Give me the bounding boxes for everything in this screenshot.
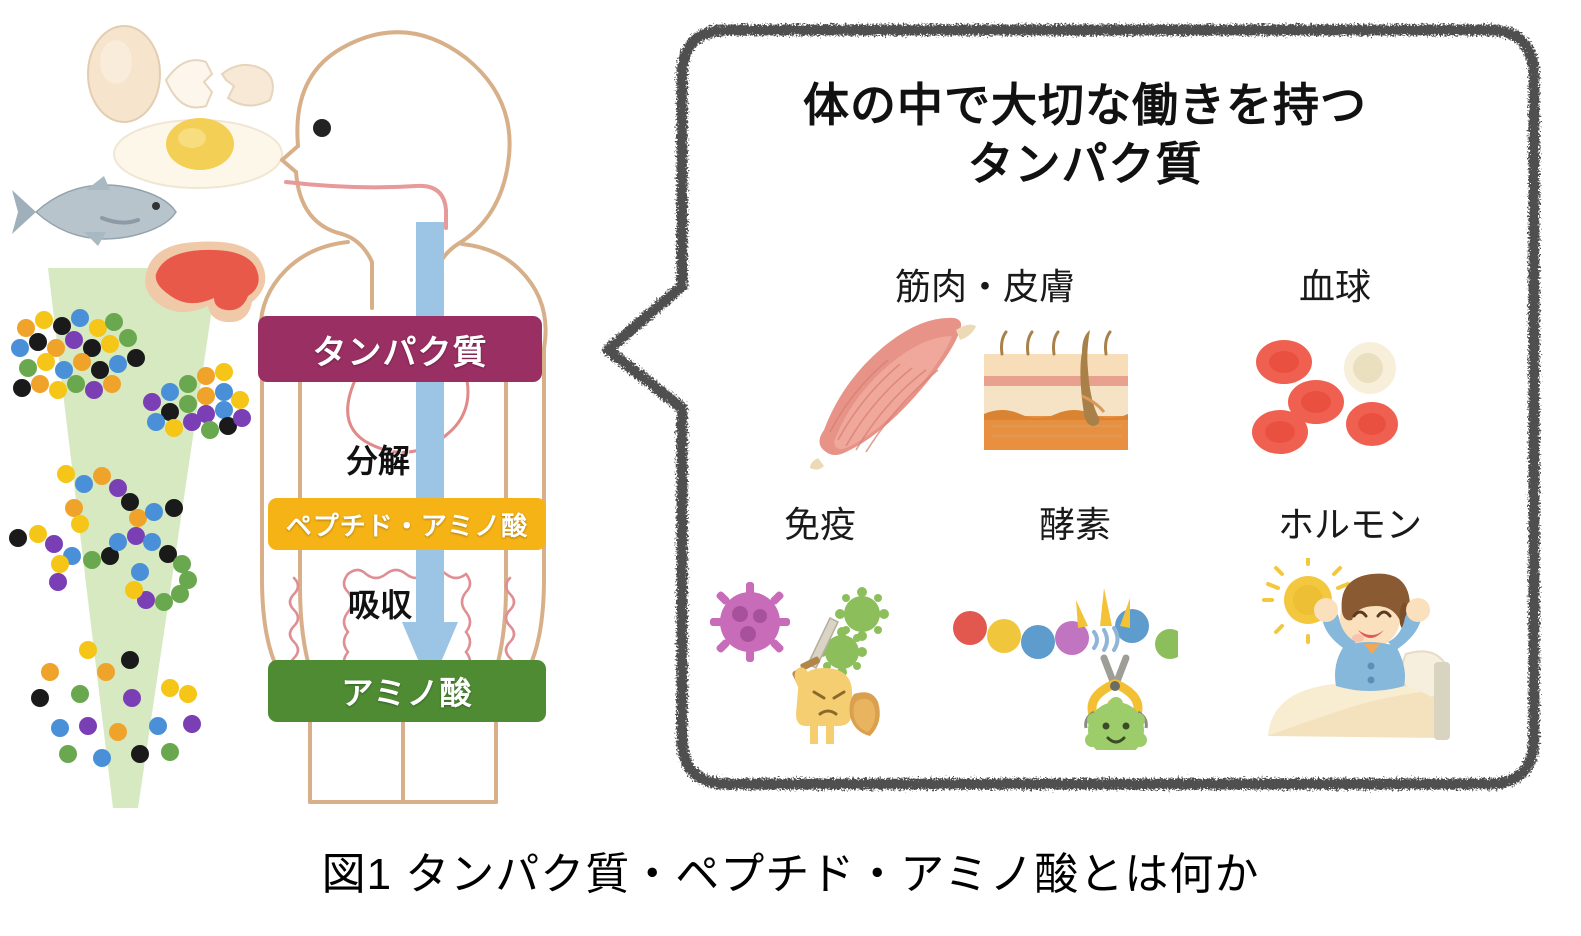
- stage-label-absorption: 吸収: [348, 580, 412, 626]
- category-label-hormone: ホルモン: [1230, 496, 1470, 548]
- category-label-immunity: 免疫: [720, 496, 920, 548]
- bubble-title-line2: タンパク質: [690, 135, 1480, 194]
- muscle-fiber-icon: [804, 312, 984, 470]
- peptide-chain-icon: [953, 609, 1178, 659]
- digestion-diagram: タンパク質 分解 ペプチド・アミノ酸 吸収 アミノ酸: [0, 0, 600, 810]
- figure-caption: 図1 タンパク質・ペプチド・アミノ酸とは何か: [0, 838, 1581, 902]
- stage-box-peptide-amino: ペプチド・アミノ酸: [268, 498, 546, 550]
- white-blood-cell-icon: [1344, 342, 1396, 394]
- category-label-blood-cells: 血球: [1230, 258, 1440, 310]
- skin-cross-section-icon: [978, 326, 1134, 454]
- enzyme-icons: [948, 570, 1178, 750]
- category-label-muscle-skin: 筋肉・皮膚: [860, 258, 1110, 310]
- cut-sparkle-icon: [1076, 588, 1130, 628]
- bubble-title: 体の中で大切な働きを持つ タンパク質: [690, 76, 1480, 194]
- virus-icon: [710, 582, 790, 662]
- hormone-icons: [1238, 558, 1468, 754]
- figure-container: タンパク質 分解 ペプチド・アミノ酸 吸収 アミノ酸 体の中で大切な働きを持つ …: [0, 0, 1581, 936]
- bubble-title-line1: 体の中で大切な働きを持つ: [690, 76, 1480, 135]
- stage-box-protein: タンパク質: [258, 316, 542, 382]
- protein-cluster-icon-2: [126, 358, 256, 468]
- blood-cells-icon: [1244, 330, 1414, 460]
- amino-acid-beads-icon: [10, 636, 230, 786]
- stage-box-amino-acid: アミノ酸: [268, 660, 546, 722]
- category-label-enzyme: 酵素: [975, 496, 1175, 548]
- immune-icons: [702, 572, 894, 758]
- stage-label-breakdown: 分解: [346, 436, 410, 482]
